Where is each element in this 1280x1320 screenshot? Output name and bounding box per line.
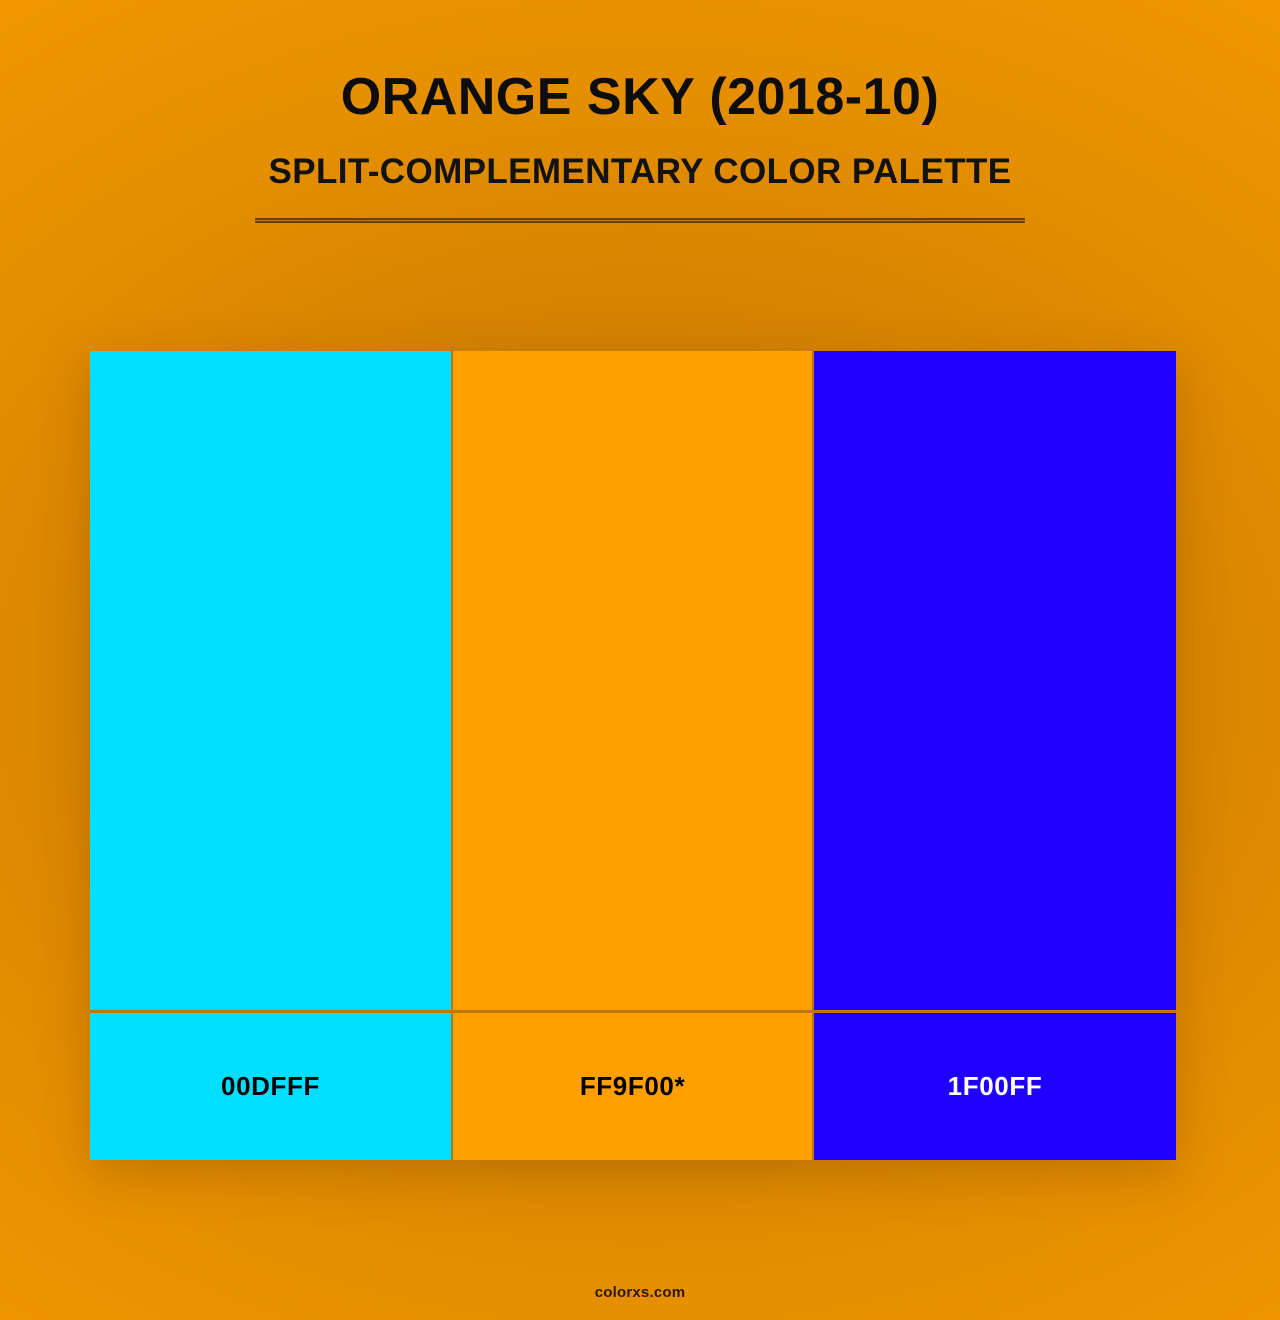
palette-card: 00DFFF FF9F00* 1F00FF (90, 351, 1176, 1160)
swatch-column-2[interactable] (453, 351, 814, 1010)
color-label-cell-3[interactable]: 1F00FF (814, 1013, 1176, 1160)
header: ORANGE SKY (2018-10) SPLIT-COMPLEMENTARY… (0, 0, 1280, 223)
color-hex-label: 00DFFF (221, 1071, 320, 1102)
color-hex-label: FF9F00* (580, 1071, 685, 1102)
site-credit: colorxs.com (595, 1284, 686, 1301)
color-label-cell-2[interactable]: FF9F00* (453, 1013, 814, 1160)
color-label-cell-1[interactable]: 00DFFF (90, 1013, 453, 1160)
header-divider (255, 218, 1025, 223)
swatch-row (90, 351, 1176, 1010)
footer: colorxs.com (0, 1284, 1280, 1302)
swatch-column-3[interactable] (814, 351, 1176, 1010)
label-row: 00DFFF FF9F00* 1F00FF (90, 1010, 1176, 1160)
page-title: ORANGE SKY (2018-10) (0, 68, 1280, 126)
color-swatch[interactable] (453, 351, 812, 1010)
color-hex-label: 1F00FF (948, 1071, 1043, 1102)
palette-page: ORANGE SKY (2018-10) SPLIT-COMPLEMENTARY… (0, 0, 1280, 1320)
page-subtitle: SPLIT-COMPLEMENTARY COLOR PALETTE (0, 153, 1280, 192)
color-swatch[interactable] (814, 351, 1176, 1010)
color-swatch[interactable] (90, 351, 451, 1010)
swatch-column-1[interactable] (90, 351, 453, 1010)
